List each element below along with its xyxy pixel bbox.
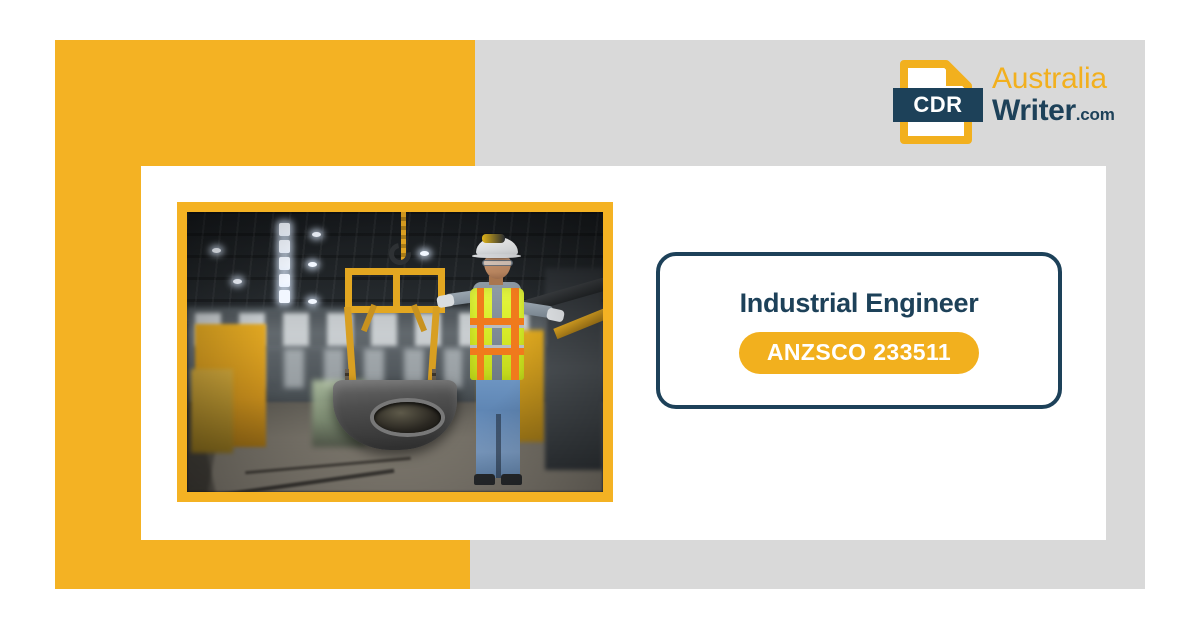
logo-word-writer: Writer.com [992, 94, 1115, 128]
cdr-badge-label: CDR [913, 94, 962, 116]
title-card: Industrial Engineer ANZSCO 233511 [656, 252, 1062, 409]
photo-vest-stripe [477, 288, 485, 380]
logo-wordmark: Australia Writer.com [992, 64, 1115, 128]
logo-dotcom-text: .com [1076, 105, 1115, 124]
photo-worker-leg-seam [496, 414, 501, 478]
photo-frame [177, 202, 613, 502]
photo-ceiling-light [308, 299, 317, 304]
logo-writer-text: Writer [992, 94, 1076, 128]
page-title: Industrial Engineer [740, 288, 979, 319]
photo-worker-safety-glasses [482, 260, 514, 266]
photo-machine-left-secondary [191, 369, 233, 453]
cdr-badge: CDR [893, 88, 983, 122]
photo-lifting-frame-divider [393, 268, 400, 313]
photo-ceiling-light [312, 232, 321, 237]
anzsco-code-badge: ANZSCO 233511 [739, 332, 979, 374]
site-logo[interactable]: CDR Australia Writer.com [900, 58, 1132, 146]
photo-ceiling-light [279, 257, 290, 270]
photo-worker-vest-opening [492, 288, 502, 380]
photo-ceiling-light [279, 240, 290, 253]
photo-vest-stripe [511, 288, 519, 380]
photo-casting-bore [374, 402, 441, 433]
photo-ceiling-light [279, 274, 290, 287]
logo-word-australia: Australia [992, 64, 1115, 94]
photo-worker-boot [501, 474, 522, 485]
photo-worker-left-glove [436, 293, 454, 307]
banner-page: Industrial Engineer ANZSCO 233511 CDR Au… [0, 0, 1200, 630]
photo-ceiling-light [279, 223, 290, 236]
photo-ear-protection [482, 234, 505, 243]
photo-ceiling-light [279, 290, 290, 303]
accent-shape-bottom-bar [55, 540, 470, 589]
photo-worker-boot [474, 474, 495, 485]
accent-shape-left-column [55, 40, 141, 589]
industrial-engineer-photo [187, 212, 603, 492]
